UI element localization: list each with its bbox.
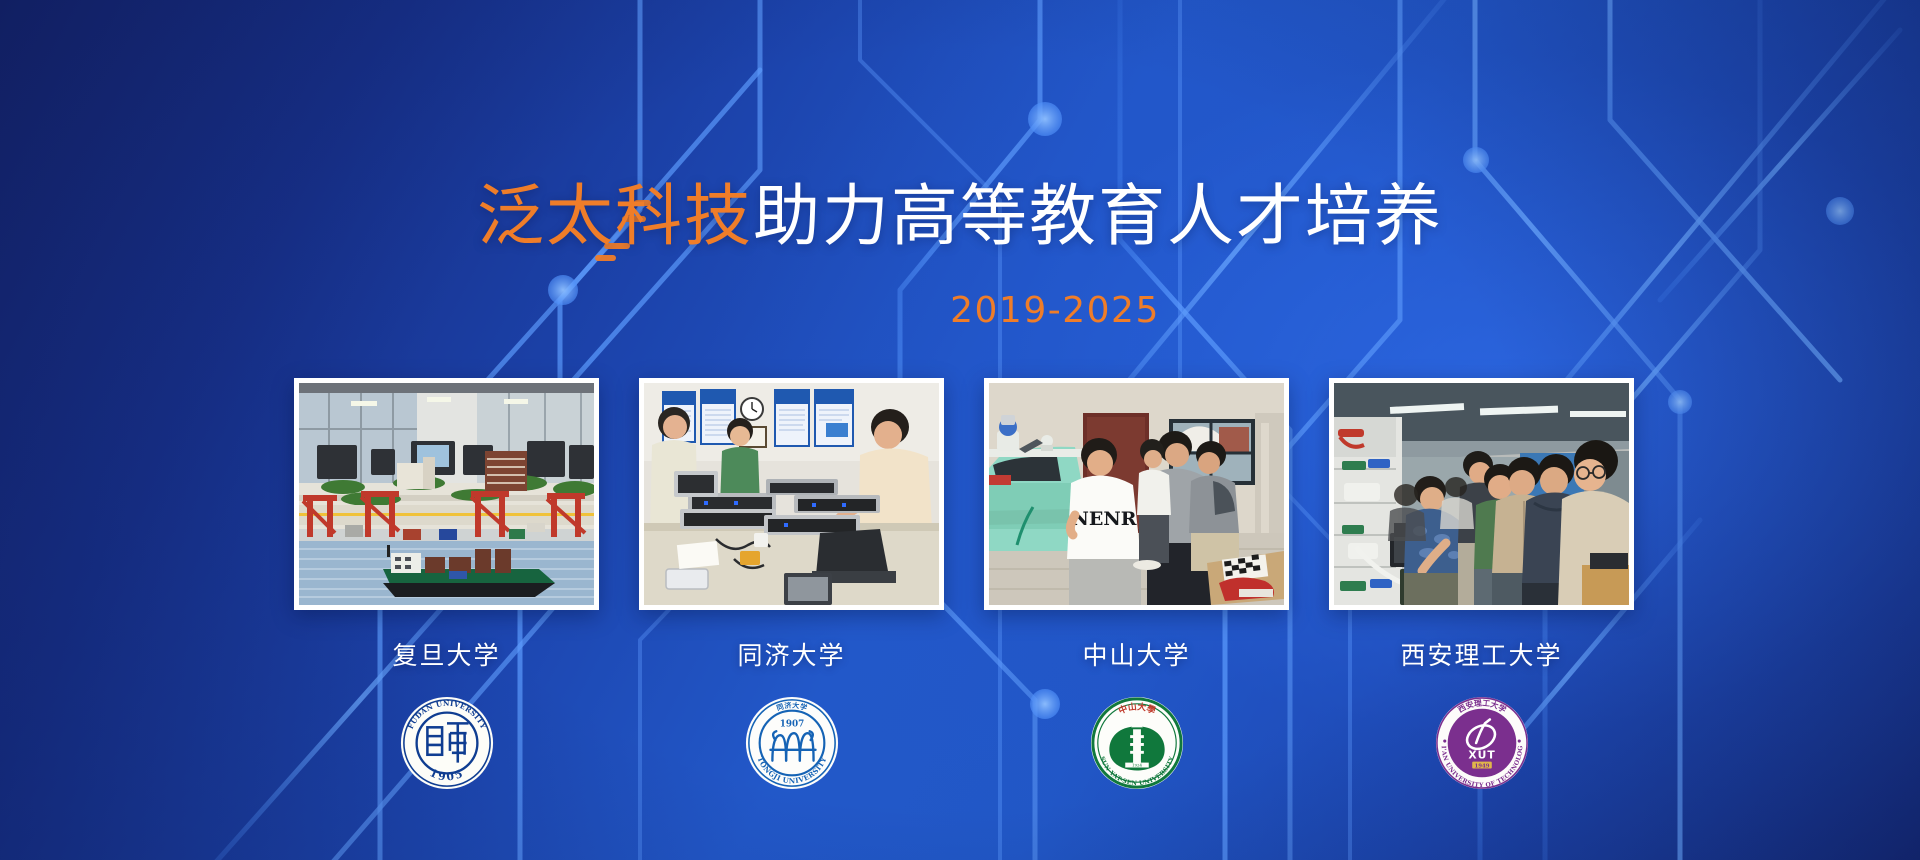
university-logo-wrap: 西安理工大学 XI'AN UNIVERSITY OF TECHNOLOGY XU… — [1329, 694, 1634, 792]
university-name: 复旦大学 — [294, 636, 599, 672]
university-name: 中山大学 — [984, 636, 1289, 672]
svg-text:XUT: XUT — [1468, 749, 1495, 762]
svg-text:1924: 1924 — [1132, 763, 1142, 768]
year-range: 2019-2025 — [0, 290, 1920, 331]
promo-banner: 泛太科技助力高等教育人才培养 2019-2025 — [0, 0, 1920, 860]
university-name: 西安理工大学 — [1329, 636, 1634, 672]
university-logo-wrap: FUDAN UNIVERSITY 1905 — [294, 694, 599, 792]
university-logo-wrap: 同济大学 TONGJI UNIVERSITY 1907 — [639, 694, 944, 792]
photo-frame — [1329, 378, 1634, 610]
fudan-university-seal-icon: FUDAN UNIVERSITY 1905 — [398, 694, 496, 792]
photo-zhongshan-autonomous-car: NENR — [989, 383, 1284, 605]
svg-text:1949: 1949 — [1474, 764, 1489, 770]
tongji-university-seal-icon: 同济大学 TONGJI UNIVERSITY 1907 — [743, 694, 841, 792]
headline-block: 泛太科技助力高等教育人才培养 — [0, 178, 1920, 255]
photo-frame: NENR — [984, 378, 1289, 610]
page-title: 泛太科技助力高等教育人才培养 — [477, 178, 1443, 255]
headline-rest: 助力高等教育人才培养 — [753, 177, 1443, 255]
photo-xut-lab-demo — [1334, 383, 1629, 605]
photo-frame — [639, 378, 944, 610]
photo-fudan-lab — [299, 383, 594, 605]
university-card[interactable]: 西安理工大学 西安理工大学 XI'AN UNIVERSITY OF TECHNO… — [1329, 378, 1634, 792]
sun-yat-sen-university-seal-icon: 中山大學 SUN YAT-SEN UNIVERSITY 1924 — [1088, 694, 1186, 792]
university-logo-wrap: 中山大學 SUN YAT-SEN UNIVERSITY 1924 — [984, 694, 1289, 792]
svg-text:NENR: NENR — [1071, 508, 1136, 530]
university-card[interactable]: 复旦大学 FUDAN UNIVERSITY 1905 — [294, 378, 599, 792]
university-card-row: 复旦大学 FUDAN UNIVERSITY 1905 — [0, 378, 1920, 792]
university-card[interactable]: NENR — [984, 378, 1289, 792]
photo-frame — [294, 378, 599, 610]
photo-tongji-lab — [644, 383, 939, 605]
university-name: 同济大学 — [639, 636, 944, 672]
svg-text:1907: 1907 — [779, 719, 804, 729]
university-card[interactable]: 同济大学 同济大学 TONGJI UNIVERSITY — [639, 378, 944, 792]
brand-name: 泛太科技 — [477, 177, 753, 255]
xian-university-of-technology-seal-icon: 西安理工大学 XI'AN UNIVERSITY OF TECHNOLOGY XU… — [1433, 694, 1531, 792]
